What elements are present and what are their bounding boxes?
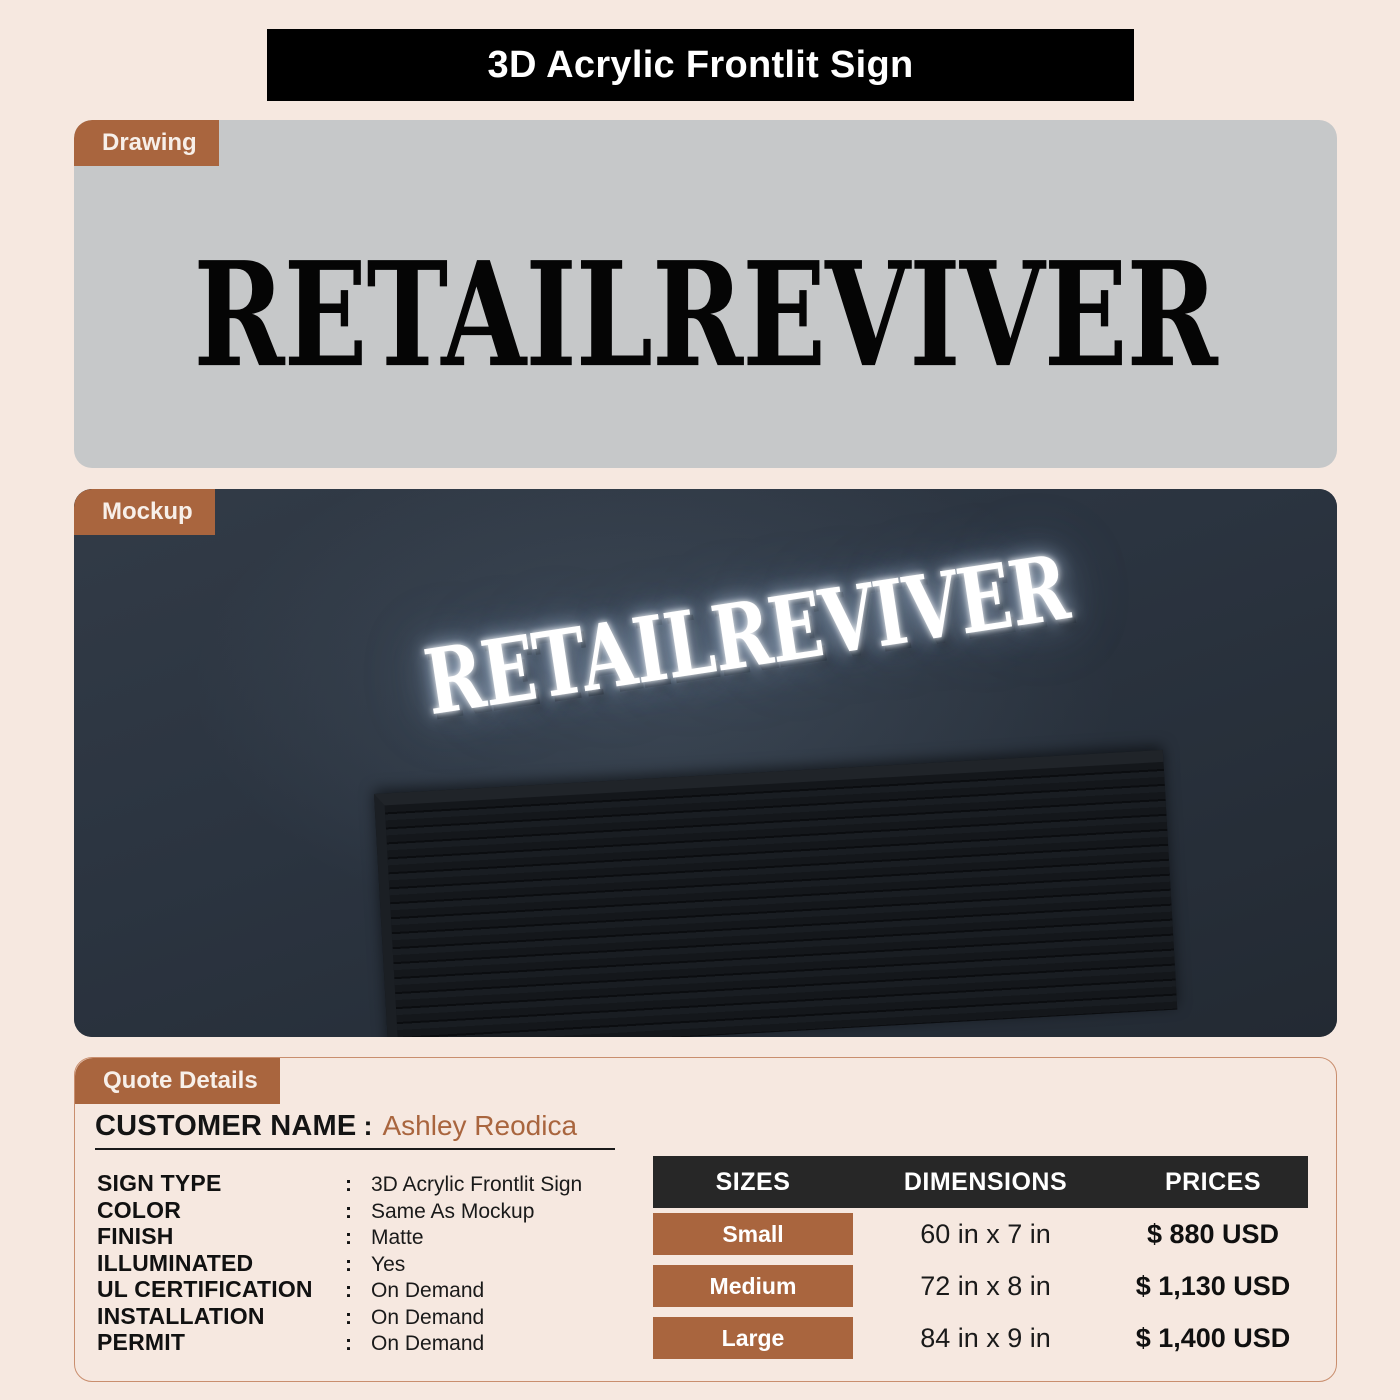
spec-colon: :: [345, 1173, 371, 1197]
customer-name-value: Ashley Reodica: [382, 1110, 577, 1142]
spec-label: PERMIT: [97, 1329, 345, 1356]
spec-list: SIGN TYPE : 3D Acrylic Frontlit Sign COL…: [97, 1170, 657, 1356]
drawing-panel: Drawing RETAILREVIVER: [74, 120, 1337, 468]
drawing-tab-label: Drawing: [102, 129, 197, 157]
spec-label: ILLUMINATED: [97, 1250, 345, 1277]
quote-body: CUSTOMER NAME : Ashley Reodica SIGN TYPE…: [75, 1104, 1336, 1381]
customer-name-label: CUSTOMER NAME: [95, 1110, 356, 1143]
spec-label: COLOR: [97, 1197, 345, 1224]
spec-row: SIGN TYPE : 3D Acrylic Frontlit Sign: [97, 1170, 657, 1197]
spec-value: Matte: [371, 1226, 424, 1250]
customer-name-row: CUSTOMER NAME : Ashley Reodica: [95, 1110, 615, 1150]
size-badge: Medium: [653, 1265, 853, 1307]
mockup-tab: Mockup: [74, 489, 215, 535]
price-value: $ 880 USD: [1118, 1219, 1308, 1250]
table-row: Large 84 in x 9 in $ 1,400 USD: [653, 1312, 1308, 1364]
page-title: 3D Acrylic Frontlit Sign: [488, 44, 914, 87]
quote-details-tab: Quote Details: [75, 1058, 280, 1104]
size-badge: Large: [653, 1317, 853, 1359]
spec-colon: :: [345, 1253, 371, 1277]
spec-row: INSTALLATION : On Demand: [97, 1303, 657, 1330]
price-value: $ 1,130 USD: [1118, 1271, 1308, 1302]
spec-row: COLOR : Same As Mockup: [97, 1197, 657, 1224]
spec-row: UL CERTIFICATION : On Demand: [97, 1276, 657, 1303]
spec-label: SIGN TYPE: [97, 1170, 345, 1197]
quote-details-tab-label: Quote Details: [103, 1067, 258, 1095]
mockup-panel: Mockup RETAILREVIVER: [74, 489, 1337, 1037]
roller-shutter: [374, 750, 1177, 1037]
mockup-tab-label: Mockup: [102, 498, 193, 526]
spec-value: 3D Acrylic Frontlit Sign: [371, 1173, 582, 1197]
shutter-wrapper: [74, 489, 1337, 1037]
drawing-logo-text: RETAILREVIVER: [194, 229, 1217, 399]
spec-row: ILLUMINATED : Yes: [97, 1250, 657, 1277]
size-badge: Small: [653, 1213, 853, 1255]
mockup-scene: RETAILREVIVER: [74, 489, 1337, 1037]
column-header-prices: PRICES: [1118, 1168, 1308, 1197]
dimensions-value: 72 in x 8 in: [853, 1271, 1118, 1302]
spec-row: PERMIT : On Demand: [97, 1329, 657, 1356]
spec-colon: :: [345, 1279, 371, 1303]
spec-colon: :: [345, 1306, 371, 1330]
spec-value: On Demand: [371, 1332, 484, 1356]
customer-name-colon: :: [363, 1111, 372, 1142]
spec-label: UL CERTIFICATION: [97, 1276, 345, 1303]
spec-colon: :: [345, 1200, 371, 1224]
spec-colon: :: [345, 1226, 371, 1250]
spec-value: Yes: [371, 1253, 405, 1277]
spec-colon: :: [345, 1332, 371, 1356]
page-title-bar: 3D Acrylic Frontlit Sign: [267, 29, 1134, 101]
drawing-artwork: RETAILREVIVER: [74, 166, 1337, 468]
dimensions-value: 60 in x 7 in: [853, 1219, 1118, 1250]
spec-value: On Demand: [371, 1306, 484, 1330]
spec-value: Same As Mockup: [371, 1200, 534, 1224]
price-table-header: SIZES DIMENSIONS PRICES: [653, 1156, 1308, 1208]
table-row: Medium 72 in x 8 in $ 1,130 USD: [653, 1260, 1308, 1312]
column-header-sizes: SIZES: [653, 1168, 853, 1197]
drawing-tab: Drawing: [74, 120, 219, 166]
quote-details-panel: Quote Details CUSTOMER NAME : Ashley Reo…: [74, 1057, 1337, 1382]
table-row: Small 60 in x 7 in $ 880 USD: [653, 1208, 1308, 1260]
spec-label: INSTALLATION: [97, 1303, 345, 1330]
spec-label: FINISH: [97, 1223, 345, 1250]
dimensions-value: 84 in x 9 in: [853, 1323, 1118, 1354]
spec-row: FINISH : Matte: [97, 1223, 657, 1250]
price-table: SIZES DIMENSIONS PRICES Small 60 in x 7 …: [653, 1156, 1308, 1364]
price-value: $ 1,400 USD: [1118, 1323, 1308, 1354]
spec-value: On Demand: [371, 1279, 484, 1303]
column-header-dimensions: DIMENSIONS: [853, 1168, 1118, 1197]
